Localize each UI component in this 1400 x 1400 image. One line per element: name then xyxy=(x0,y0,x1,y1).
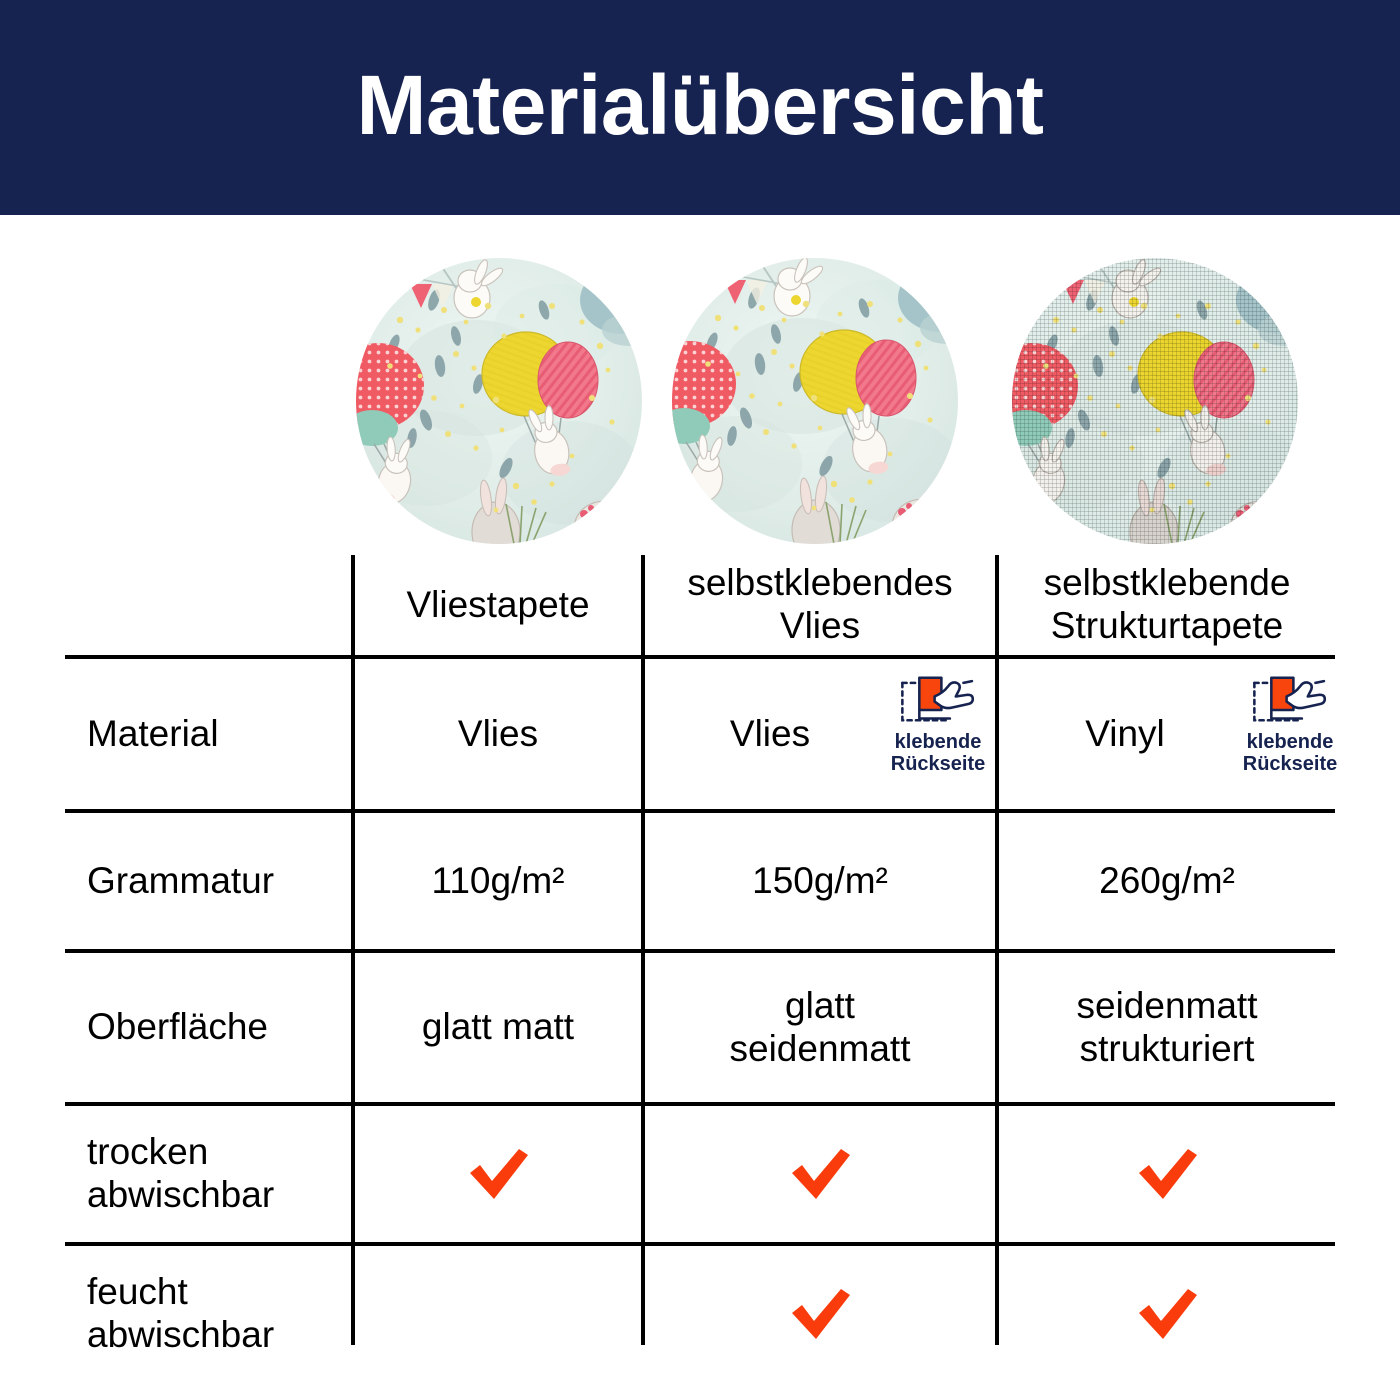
check-icon xyxy=(1133,1283,1201,1345)
column-header-2: selbstklebende Strukturtapete xyxy=(999,555,1335,655)
check-icon xyxy=(786,1143,854,1205)
adhesive-badge-label: klebendeRückseite xyxy=(1243,731,1338,776)
row-label-grammatur: Grammatur xyxy=(65,813,351,949)
sample-swatch-selbstklebende-strukturtapete xyxy=(1012,258,1298,544)
cell-oberflaeche-col1: glatt seidenmatt xyxy=(645,953,995,1102)
cell-oberflaeche-col2: seidenmatt strukturiert xyxy=(999,953,1335,1102)
cell-feucht-col1 xyxy=(645,1246,995,1382)
adhesive-backing-badge-col1: klebendeRückseite xyxy=(871,671,1005,776)
cell-grammatur-col1: 150g/m² xyxy=(645,813,995,949)
swatch-texture-overlay-structure xyxy=(1012,258,1298,544)
cell-feucht-col0 xyxy=(355,1246,641,1382)
cell-material-col0: Vlies xyxy=(355,659,641,809)
row-label-feucht-abwischbar: feucht abwischbar xyxy=(65,1246,351,1382)
sample-swatch-vliestapete xyxy=(356,258,642,544)
cell-material-col1: Vlies xyxy=(645,659,895,809)
cell-trocken-col2 xyxy=(999,1106,1335,1242)
cell-feucht-col2 xyxy=(999,1246,1335,1382)
check-icon xyxy=(786,1283,854,1345)
check-icon xyxy=(1133,1143,1201,1205)
row-label-material: Material xyxy=(65,659,351,809)
column-header-1: selbstklebendes Vlies xyxy=(645,555,995,655)
cell-oberflaeche-col0: glatt matt xyxy=(355,953,641,1102)
cell-trocken-col1 xyxy=(645,1106,995,1242)
cell-material-col2: Vinyl xyxy=(999,659,1251,809)
cell-grammatur-col0: 110g/m² xyxy=(355,813,641,949)
sample-swatch-selbstklebendes-vlies xyxy=(672,258,958,544)
cell-trocken-col0 xyxy=(355,1106,641,1242)
cell-grammatur-col2: 260g/m² xyxy=(999,813,1335,949)
material-spec-table: Vliestapete selbstklebendes Vlies selbst… xyxy=(65,555,1335,1345)
page-title: Materialübersicht xyxy=(0,0,1400,215)
peel-adhesive-backing-icon xyxy=(1249,671,1331,727)
material-overview-infographic: Materialübersicht xyxy=(0,0,1400,1400)
row-label-trocken-abwischbar: trocken abwischbar xyxy=(65,1106,351,1242)
check-icon xyxy=(464,1143,532,1205)
column-header-0: Vliestapete xyxy=(355,555,641,655)
adhesive-backing-badge-col2: klebendeRückseite xyxy=(1223,671,1357,776)
header-band: Materialübersicht xyxy=(0,0,1400,215)
row-label-oberflaeche: Oberfläche xyxy=(65,953,351,1102)
peel-adhesive-backing-icon xyxy=(897,671,979,727)
adhesive-badge-label: klebendeRückseite xyxy=(891,731,986,776)
